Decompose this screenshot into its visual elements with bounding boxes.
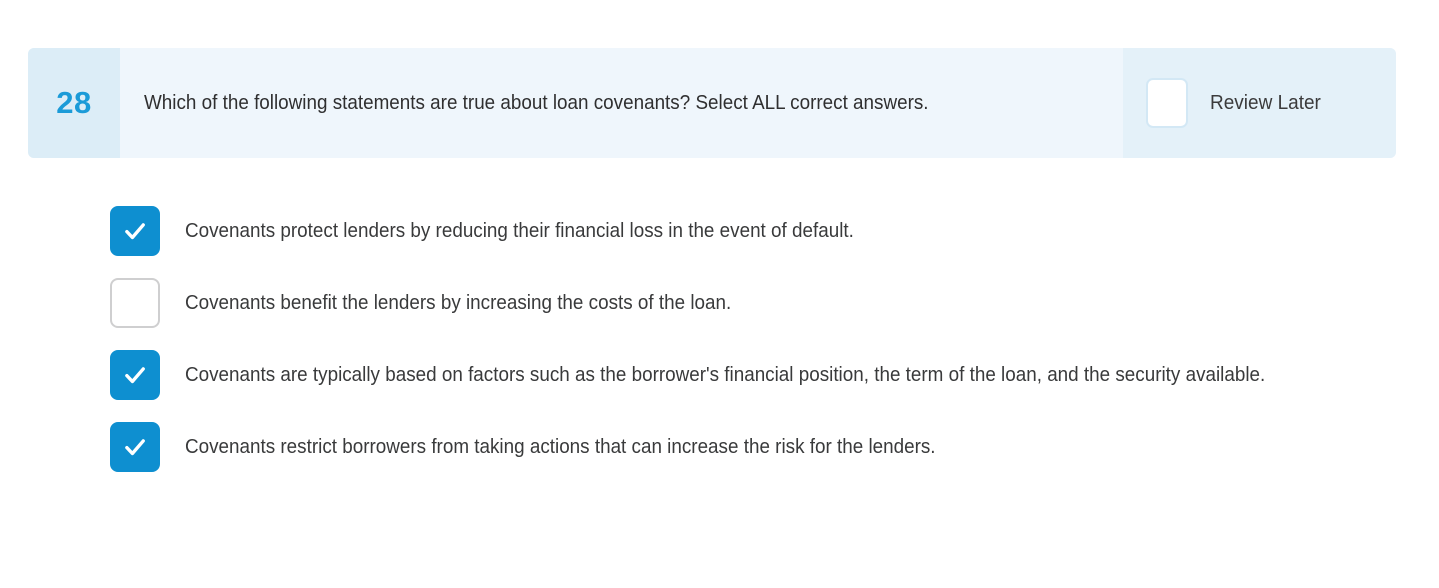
option-row[interactable]: Covenants restrict borrowers from taking… xyxy=(110,422,1410,472)
question-text-cell: Which of the following statements are tr… xyxy=(120,48,1123,158)
question-number-cell: 28 xyxy=(28,48,120,158)
option-label-4: Covenants restrict borrowers from taking… xyxy=(185,434,936,460)
answer-options-list: Covenants protect lenders by reducing th… xyxy=(110,206,1410,494)
review-later-checkbox[interactable] xyxy=(1146,78,1188,128)
option-label-3: Covenants are typically based on factors… xyxy=(185,362,1265,388)
option-checkbox-4[interactable] xyxy=(110,422,160,472)
check-icon xyxy=(122,434,148,460)
review-later-control[interactable]: Review Later xyxy=(1123,48,1396,158)
option-row[interactable]: Covenants protect lenders by reducing th… xyxy=(110,206,1410,256)
option-row[interactable]: Covenants benefit the lenders by increas… xyxy=(110,278,1410,328)
check-icon xyxy=(122,218,148,244)
question-number: 28 xyxy=(56,85,91,121)
option-checkbox-2[interactable] xyxy=(110,278,160,328)
option-checkbox-1[interactable] xyxy=(110,206,160,256)
question-page: 28 Which of the following statements are… xyxy=(0,0,1439,588)
question-header-band: 28 Which of the following statements are… xyxy=(28,48,1396,158)
option-label-2: Covenants benefit the lenders by increas… xyxy=(185,290,731,316)
question-text: Which of the following statements are tr… xyxy=(144,90,929,117)
option-label-1: Covenants protect lenders by reducing th… xyxy=(185,218,854,244)
option-row[interactable]: Covenants are typically based on factors… xyxy=(110,350,1410,400)
review-later-label: Review Later xyxy=(1210,92,1321,115)
check-icon xyxy=(122,362,148,388)
option-checkbox-3[interactable] xyxy=(110,350,160,400)
